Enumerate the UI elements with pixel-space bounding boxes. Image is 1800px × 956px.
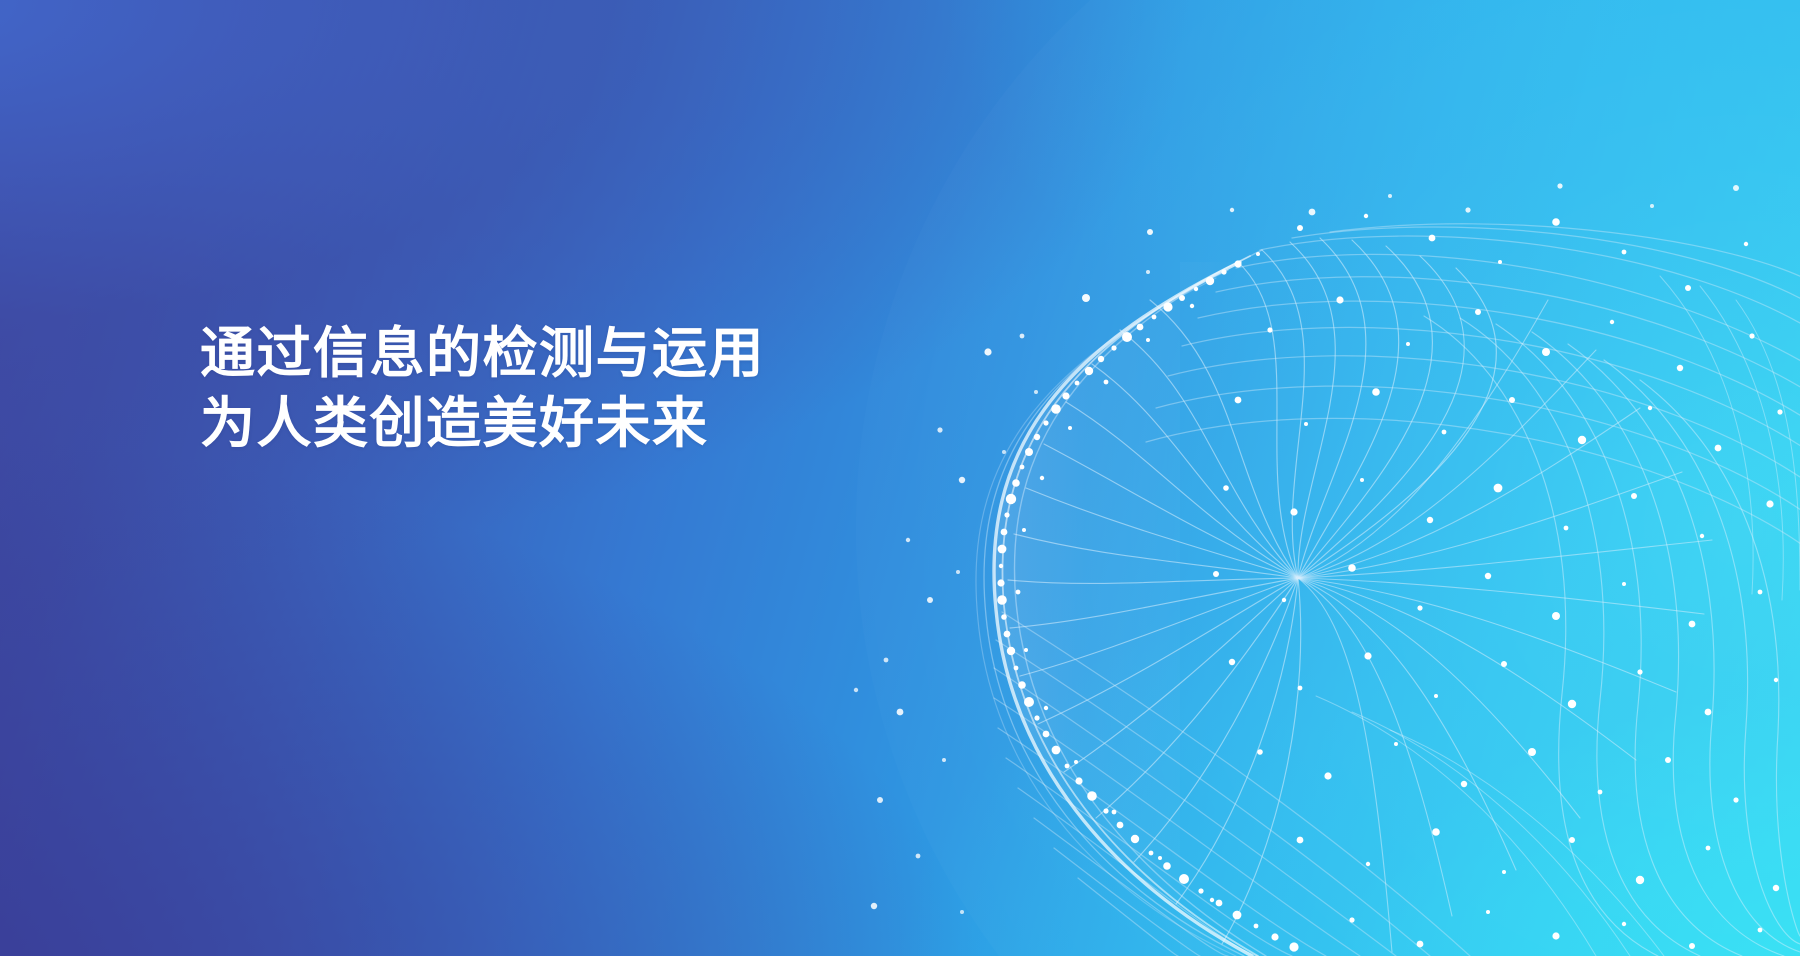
headline-line-2: 为人类创造美好未来 xyxy=(200,388,765,458)
headline-line-1: 通过信息的检测与运用 xyxy=(200,318,765,388)
fiber-optic-globe-graphic xyxy=(0,0,1800,956)
hero-banner: 通过信息的检测与运用 为人类创造美好未来 xyxy=(0,0,1800,956)
page-title: 通过信息的检测与运用 为人类创造美好未来 xyxy=(200,318,765,458)
